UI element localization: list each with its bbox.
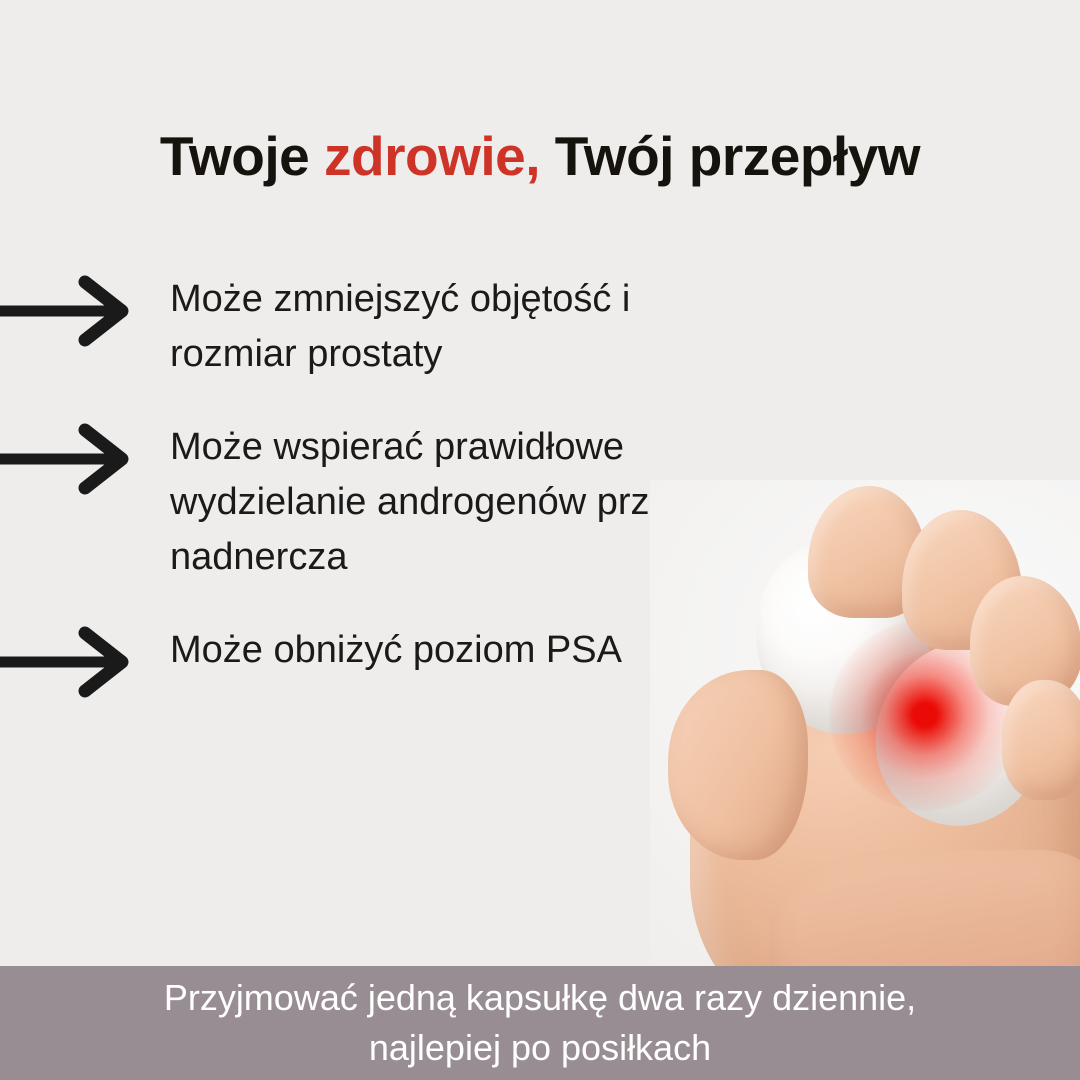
poster-canvas: Twoje zdrowie, Twój przepływ Może zmniej… [0,0,1080,1080]
benefit-text: Może wspierać prawidłowe wydzielanie and… [170,420,820,585]
finger-shape [970,576,1080,706]
finger-shape [902,510,1022,650]
pain-glow-indicator [830,620,1020,810]
palm-shape [690,630,1080,980]
page-title-part2: Twój przepływ [540,125,920,187]
wrist-shape [770,850,1080,980]
benefit-item: Może wspierać prawidłowe wydzielanie and… [0,420,820,585]
benefit-item: Może obniżyć poziom PSA [0,623,820,678]
benefit-text: Może zmniejszyć objętość i rozmiar prost… [170,272,820,382]
egg-lower [849,615,1074,850]
benefit-item: Może zmniejszyć objętość i rozmiar prost… [0,272,820,382]
dosage-banner: Przyjmować jedną kapsułkę dwa razy dzien… [0,966,1080,1080]
page-title-part1: Twoje [160,125,324,187]
page-title: Twoje zdrowie, Twój przepływ [0,125,1080,187]
arrow-right-icon [0,420,135,498]
dosage-banner-text: Przyjmować jedną kapsułkę dwa razy dzien… [40,973,1040,1073]
finger-shape [808,486,926,618]
arrow-right-icon [0,623,135,701]
benefit-text: Może obniżyć poziom PSA [170,623,820,678]
finger-shape [1002,680,1080,800]
thumb-shape [668,670,808,860]
benefits-list: Może zmniejszyć objętość i rozmiar prost… [0,272,820,678]
arrow-right-icon [0,272,135,350]
page-title-accent: zdrowie, [324,125,540,187]
